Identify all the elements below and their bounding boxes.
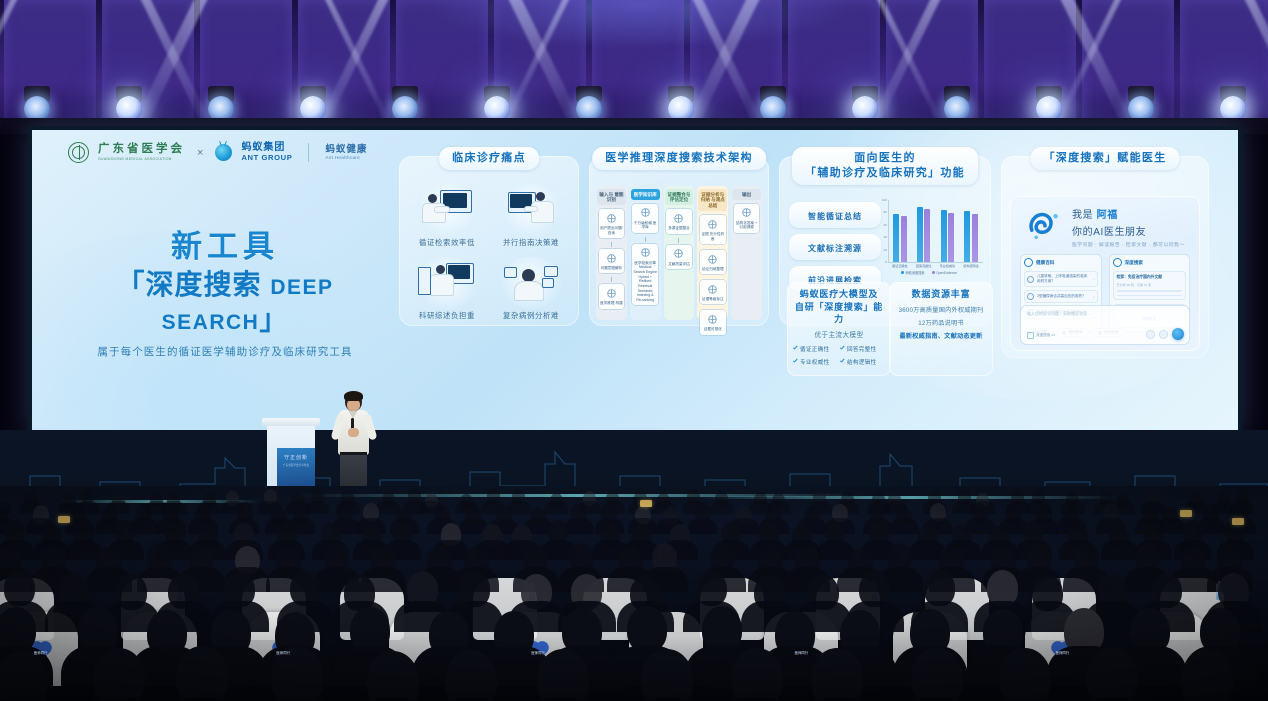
panel-empower-doctors: 「深度搜索」赋能医生 我是 阿福 你的AI医生朋友 医学问题 · 解读报告 · …: [1001, 156, 1209, 358]
audience-shoulders: [305, 501, 329, 514]
flow-node-label: 证据 充分性判断: [701, 232, 725, 241]
chart-legend-item: OpenEvidence: [932, 270, 957, 275]
flow-node-label: 用户提出问题/查询: [600, 226, 624, 235]
legend-swatch: [932, 271, 935, 274]
flow-node-label: 医学检索引擎 Medical Search Engine Hybrid + Re…: [633, 261, 657, 303]
merge-icon: [672, 212, 685, 225]
capability-check-item: 循证正确性: [792, 345, 839, 353]
flow-column-header: 输入与 意图识别: [597, 189, 626, 205]
speaker-hands: [348, 428, 359, 437]
flow-column: 输入与 意图识别用户提出问题/查询问题意图解析医学推理 构建: [596, 186, 627, 320]
audience-head: [1181, 649, 1233, 701]
panel-pain-points: 临床诊疗痛点 循证检索效率低并行指南决策难科研综述负担重复杂病例分析难: [399, 156, 579, 326]
panel-tech-architecture: 医学推理深度搜索技术架构 输入与 意图识别用户提出问题/查询问题意图解析医学推理…: [589, 156, 769, 326]
chair-logo-text: 医师同行: [788, 650, 814, 655]
search-icon: [605, 252, 618, 265]
result-meta: 已分析 38 篇 · 引用 12 条: [1117, 282, 1183, 287]
stage-ceiling: [0, 0, 1268, 132]
legend-swatch: [901, 271, 904, 274]
chart-bar-group: [917, 200, 931, 262]
chart-bar: [964, 211, 970, 262]
gdma-name-cn: 广东省医学会: [98, 144, 185, 156]
capability-check-item: 结构逻辑性: [839, 358, 886, 366]
flow-node-label: 千万级权威 医学库: [633, 221, 657, 230]
pain-point-item: 并行指南决策难: [489, 184, 573, 248]
suggestion-text: 儿童咳嗽、上呼吸道感染的临床用药方案？: [1037, 274, 1090, 284]
ai-assistant-app-mockup: 我是 阿福 你的AI医生朋友 医学问题 · 解读报告 · 检索文献 · 都可以问…: [1010, 196, 1200, 351]
model-card-title-1: 蚂蚁医疗大模型及: [792, 288, 886, 301]
capability-label: 专业权威性: [800, 358, 829, 366]
features-title-line1: 面向医生的: [805, 151, 965, 166]
greet-prefix: 我是: [1072, 210, 1097, 221]
assistant-name: 阿福: [1097, 210, 1118, 221]
flow-connector: [611, 242, 612, 247]
features-title-line2: 「辅助诊疗及临床研究」功能: [805, 166, 965, 181]
result-skeleton-line: [1117, 295, 1183, 297]
chart-bar: [948, 213, 954, 262]
doctor-papers-icon: [416, 257, 478, 309]
ant-health-name-en: Ant Healthcare: [325, 155, 367, 160]
check-icon: [839, 359, 845, 365]
quality-icon: [672, 247, 685, 260]
logo-divider: [308, 143, 309, 162]
right-card-title: 深度搜索: [1125, 260, 1143, 266]
audience-head: [367, 651, 419, 701]
chart-y-tick: 100: [882, 198, 887, 202]
model-icon: [1027, 332, 1034, 339]
podium-subtitle: 广东省医学会学术年会: [277, 463, 315, 467]
architecture-flow-diagram: 输入与 意图识别用户提出问题/查询问题意图解析医学推理 构建医学知识库千万级权威…: [596, 186, 762, 320]
chart-y-tick: 80: [884, 210, 887, 214]
flow-node-label: 文献质量评估: [667, 262, 691, 267]
flow-node: 医学推理 构建: [599, 284, 625, 308]
ant-health-name-cn: 蚂蚁健康: [325, 145, 367, 155]
panel-doctor-features: 面向医生的 「辅助诊疗及临床研究」功能 智能循证总结文献标注溯源前沿进展检索 1…: [779, 156, 991, 326]
pain-point-grid: 循证检索效率低并行指南决策难科研综述负担重复杂病例分析难: [405, 184, 573, 330]
flow-node-label: 结论归纳整理: [701, 267, 725, 272]
feature-pill: 智能循证总结: [789, 202, 881, 228]
mic-icon[interactable]: [1159, 330, 1168, 339]
podium-top: [262, 418, 320, 426]
flow-node: 文献质量评估: [666, 245, 692, 269]
legend-label: 蚂蚁深度搜索: [905, 270, 924, 275]
flow-node: 证据可视化: [700, 310, 726, 334]
pain-point-label: 复杂病例分析难: [503, 310, 559, 321]
pain-point-item: 复杂病例分析难: [489, 257, 573, 321]
chart-y-axis: 100806040200: [875, 200, 888, 262]
audience-shoulders: [710, 501, 734, 514]
left-card-title: 健康百科: [1036, 260, 1054, 266]
flow-node: 用户提出问题/查询: [599, 209, 625, 238]
send-icon[interactable]: [1172, 328, 1184, 340]
flow-node-label: 证据可视化: [701, 327, 725, 332]
chart-x-tick: 循证正确性: [888, 263, 912, 268]
chart-y-tick: 20: [884, 248, 887, 252]
capability-check-item: 回答完整性: [839, 345, 886, 353]
search-result-preview: 检索：免疫治疗国内外文献 已分析 38 篇 · 引用 12 条: [1113, 271, 1187, 300]
chart-y-tick: 0: [885, 260, 887, 264]
model-card-subtitle: 优于主流大模型: [792, 329, 886, 339]
data-card-line1: 3600万高质量国内外权威期刊: [894, 305, 988, 314]
chart-bar-group: [964, 200, 978, 262]
chair-logo-text: 医师同行: [1049, 650, 1075, 655]
database-icon: [639, 206, 652, 219]
doctor-thinking-icon: [500, 257, 562, 309]
chair-logo-text: 医师同行: [525, 650, 551, 655]
audience-shoulders: [688, 518, 718, 534]
right-card-header: 深度搜索: [1113, 258, 1187, 267]
speaker-belt: [340, 452, 367, 455]
model-selector-label: 深度搜索 v1: [1036, 333, 1055, 338]
tree-icon: [605, 287, 618, 300]
flow-node: 证据等级标注: [700, 280, 726, 304]
slide-logo-row: 广东省医学会 GUANGDONG MEDICAL ASSOCIATION × 蚂…: [68, 142, 367, 163]
audience-head: [93, 648, 145, 701]
audience-phone-camera: [58, 516, 70, 523]
flow-connector: [678, 238, 679, 243]
flow-column-header: 医学知识库: [631, 189, 660, 200]
greet-line2: 你的AI医生朋友: [1072, 223, 1185, 238]
composer-placeholder: 输入您的医学问题，获取循证答案…: [1027, 311, 1091, 317]
pain-point-item: 循证检索效率低: [405, 184, 489, 248]
suggestion-row[interactable]: 儿童咳嗽、上呼吸道感染的临床用药方案？›: [1024, 271, 1098, 287]
chart-bar: [924, 209, 930, 262]
pain-point-label: 并行指南决策难: [503, 237, 559, 248]
left-card-header: 健康百科: [1024, 258, 1098, 267]
feature-pill-label: 文献标注溯源: [808, 244, 862, 253]
model-capability-card: 蚂蚁医疗大模型及 自研「深度搜索」能力 优于主流大模型 循证正确性回答完整性专业…: [787, 282, 891, 376]
hero-line1: 新工具: [80, 230, 370, 265]
flow-node: 结构化答案 + 引用溯源: [734, 204, 760, 233]
flow-connector: [611, 277, 612, 282]
output-doc-icon: [740, 206, 753, 219]
ceiling-panel: [4, 0, 96, 132]
data-card-line3: 最新权威指南、文献动态更新: [894, 331, 988, 340]
panel-pain-points-title: 临床诊疗痛点: [439, 147, 539, 170]
chevron-right-icon: ›: [1093, 277, 1094, 282]
flow-node: 千万级权威 医学库: [632, 204, 658, 233]
flow-node: 多源证据整合: [666, 209, 692, 233]
hero-bracket-open: 「: [117, 269, 146, 300]
audience-phone-camera: [640, 500, 652, 507]
suggestion-text: 2型糖尿病合并高血压的用药？: [1037, 294, 1090, 299]
led-screen: 广东省医学会 GUANGDONG MEDICAL ASSOCIATION × 蚂…: [28, 126, 1242, 434]
chart-y-tick: 60: [884, 223, 887, 227]
engine-icon: [639, 246, 652, 259]
composer-buttons: [1146, 328, 1184, 340]
assistant-greeting: 我是 阿福 你的AI医生朋友 医学问题 · 解读报告 · 检索文献 · 都可以问…: [1072, 206, 1185, 248]
greet-line3: 医学问题 · 解读报告 · 检索文献 · 都可以问我～: [1072, 241, 1185, 248]
data-card-title: 数据资源丰富: [894, 288, 988, 301]
flow-column-header: 输出: [732, 189, 761, 200]
flow-node: 问题意图解析: [599, 249, 625, 273]
chair-logo-text: 医师同行: [270, 650, 296, 655]
data-card-line2: 12万药品说明书: [894, 318, 988, 327]
capability-label: 结构逻辑性: [847, 358, 876, 366]
flow-column: 证据整合与 评估定位多源证据整合文献质量评估: [664, 186, 695, 320]
panel-empower-title: 「深度搜索」赋能医生: [1031, 147, 1180, 170]
hero-subtitle: 属于每个医生的循证医学辅助诊疗及临床研究工具: [80, 344, 370, 359]
panel-features-title: 面向医生的 「辅助诊疗及临床研究」功能: [792, 147, 978, 185]
flow-column: 医学知识库千万级权威 医学库医学检索引擎 Medical Search Engi…: [630, 186, 661, 320]
chevron-right-icon: ›: [1093, 294, 1094, 299]
chart-bar: [901, 216, 907, 262]
chart-bar: [917, 207, 923, 262]
capability-check-item: 专业权威性: [792, 358, 839, 366]
doctor-monitor-icon: [416, 184, 478, 236]
flow-node-label: 证据等级标注: [701, 297, 725, 302]
podium-title: 守正创新: [277, 454, 315, 461]
speaker-hair: [344, 391, 363, 401]
flow-node: 医学检索引擎 Medical Search Engine Hybrid + Re…: [632, 244, 658, 306]
capability-label: 循证正确性: [800, 345, 829, 353]
flow-column: 证据分析与归纳 与观点总结证据 充分性判断结论归纳整理证据等级标注证据可视化: [697, 186, 728, 320]
ant-health-mark-icon: [1022, 203, 1068, 247]
chart-x-tick: 结构逻辑性: [959, 263, 983, 268]
chart-legend-item: 蚂蚁深度搜索: [901, 270, 925, 275]
chair-logo-text: 医师同行: [28, 650, 54, 655]
flow-node-label: 医学推理 构建: [600, 301, 624, 306]
check-icon: [792, 346, 798, 352]
audience-shoulders: [544, 501, 568, 514]
attach-icon[interactable]: [1146, 330, 1155, 339]
conference-stage-photo: 广东省医学会 GUANGDONG MEDICAL ASSOCIATION × 蚂…: [0, 0, 1268, 701]
circle-ring-icon: [1113, 258, 1122, 267]
flow-column-header: 证据分析与归纳 与观点总结: [698, 189, 727, 211]
circle-ring-icon: [1024, 258, 1033, 267]
chart-bars: [888, 200, 983, 262]
data-resource-card: 数据资源丰富 3600万高质量国内外权威期刊 12万药品说明书 最新权威指南、文…: [889, 282, 993, 376]
search-icon: [1027, 293, 1034, 300]
chart-bar: [972, 214, 978, 262]
audience-shoulders: [564, 518, 594, 534]
gdma-seal-icon: [68, 142, 89, 163]
legend-label: OpenEvidence: [936, 271, 957, 275]
chart-x-labels: 循证正确性回答完整性专业权威性结构逻辑性: [888, 263, 983, 268]
audience-head: [911, 648, 963, 701]
decision-icon: [706, 218, 719, 231]
doc-icon: [706, 313, 719, 326]
audience-head: [445, 650, 497, 701]
chart-legend: 蚂蚁深度搜索OpenEvidence: [875, 270, 983, 275]
pain-point-item: 科研综述负担重: [405, 257, 489, 321]
audience-shoulders: [889, 518, 919, 534]
search-icon: [1027, 276, 1034, 283]
model-card-title-2: 自研「深度搜索」能力: [792, 301, 886, 326]
hero-line2: 「深度搜索 DEEP SEARCH」: [80, 267, 370, 337]
flow-node-label: 多源证据整合: [667, 226, 691, 231]
audience-shoulders: [1101, 540, 1138, 560]
flow-node: 证据 充分性判断: [700, 215, 726, 244]
suggestion-row[interactable]: 2型糖尿病合并高血压的用药？›: [1024, 290, 1098, 303]
feature-pill: 文献标注溯源: [789, 234, 881, 260]
chart-x-tick: 专业权威性: [936, 263, 960, 268]
panel-tech-title: 医学推理深度搜索技术架构: [592, 147, 766, 170]
result-title: 检索：免疫治疗国内外文献: [1117, 275, 1183, 280]
audience-phone-camera: [1180, 510, 1192, 517]
audience-head: [176, 646, 228, 701]
audience-seating: 医师同行医师同行医师同行医师同行医师同行: [0, 486, 1268, 701]
message-composer[interactable]: 输入您的医学问题，获取循证答案… 深度搜索 v1: [1020, 305, 1190, 345]
pain-point-label: 循证检索效率低: [419, 237, 475, 248]
capability-label: 回答完整性: [847, 345, 876, 353]
slide-hero: 新工具 「深度搜索 DEEP SEARCH」 属于每个医生的循证医学辅助诊疗及临…: [80, 230, 370, 359]
chart-bar: [941, 210, 947, 262]
hero-title-cn: 深度搜索: [146, 269, 262, 300]
ant-group-logo-icon: [215, 144, 232, 161]
flow-node: 结论归纳整理: [700, 250, 726, 274]
chart-bar-group: [941, 200, 955, 262]
greet-line1: 我是 阿福: [1072, 206, 1185, 221]
chart-bar: [893, 214, 899, 262]
chart-y-tick: 40: [884, 235, 887, 239]
flow-column-header: 证据整合与 评估定位: [665, 189, 694, 205]
benchmark-bar-chart: 100806040200 循证正确性回答完整性专业权威性结构逻辑性 蚂蚁深度搜索…: [875, 200, 983, 278]
audience-phone-camera: [1232, 518, 1244, 525]
doctor-desk-icon: [500, 184, 562, 236]
flow-node-label: 结构化答案 + 引用溯源: [735, 221, 759, 230]
model-selector[interactable]: 深度搜索 v1: [1027, 332, 1055, 339]
feature-pill-label: 智能循证总结: [808, 212, 862, 221]
chart-x-tick: 回答完整性: [912, 263, 936, 268]
hero-bracket-close: 」: [259, 304, 288, 335]
flow-column: 输出结构化答案 + 引用溯源: [731, 186, 762, 320]
gear-icon: [605, 212, 618, 225]
gdma-name-en: GUANGDONG MEDICAL ASSOCIATION: [98, 157, 185, 161]
model-card-check-list: 循证正确性回答完整性专业权威性结构逻辑性: [792, 345, 886, 371]
ant-name-en: ANT GROUP: [241, 154, 292, 162]
logo-separator: ×: [197, 147, 203, 159]
chart-bar-group: [893, 200, 907, 262]
chart-icon: [706, 283, 719, 296]
list-icon: [706, 253, 719, 266]
presentation-slide: 广东省医学会 GUANGDONG MEDICAL ASSOCIATION × 蚂…: [32, 130, 1238, 430]
result-skeleton-line: [1117, 290, 1183, 292]
flow-connector: [645, 237, 646, 242]
pain-point-label: 科研综述负担重: [419, 310, 475, 321]
check-icon: [839, 346, 845, 352]
check-icon: [792, 359, 798, 365]
flow-node-label: 问题意图解析: [600, 266, 624, 271]
